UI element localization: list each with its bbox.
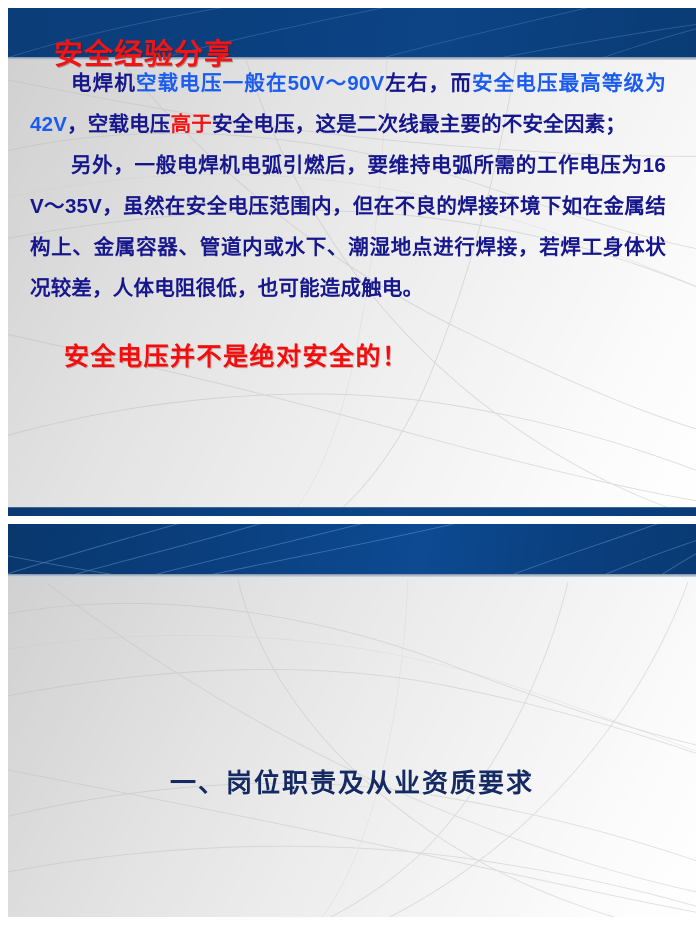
header-band-decoration xyxy=(8,524,696,574)
slide-safety-experience-sharing: 安全经验分享 电焊机空载电压一般在50V～90V左右，而安全电压最高等级为42V… xyxy=(8,8,696,516)
slide-deck: 安全经验分享 电焊机空载电压一般在50V～90V左右，而安全电压最高等级为42V… xyxy=(0,0,696,925)
slide-one-footer-band xyxy=(8,507,696,516)
slide-two-header-underline xyxy=(8,574,696,577)
run-navy-3: ，空载电压 xyxy=(67,113,171,136)
slide-two-header-band xyxy=(8,524,696,574)
slide-two-section-heading: 一、岗位职责及从业资质要求 xyxy=(8,764,696,802)
slide-one-body: 电焊机空载电压一般在50V～90V左右，而安全电压最高等级为42V，空载电压高于… xyxy=(8,63,696,508)
slide-one-conclusion: 安全电压并不是绝对安全的！ xyxy=(8,337,696,377)
paragraph-2: 另外，一般电焊机电弧引燃后，要维持电弧所需的工作电压为16 V～35V，虽然在安… xyxy=(8,145,696,309)
run-navy-5: 另外，一般电焊机电弧引燃后，要维持电弧所需的工作电压为16 V～35V，虽然在安… xyxy=(30,154,666,300)
slide-one-title: 安全经验分享 xyxy=(54,33,234,77)
slide-section-divider: 一、岗位职责及从业资质要求 xyxy=(8,524,696,917)
run-navy-4: 安全电压，这是二次线最主要的不安全因素； xyxy=(212,113,626,136)
run-red-1: 高于 xyxy=(171,113,212,136)
slide-two-background-texture xyxy=(8,524,696,917)
run-navy-2: 左右，而 xyxy=(384,72,472,95)
